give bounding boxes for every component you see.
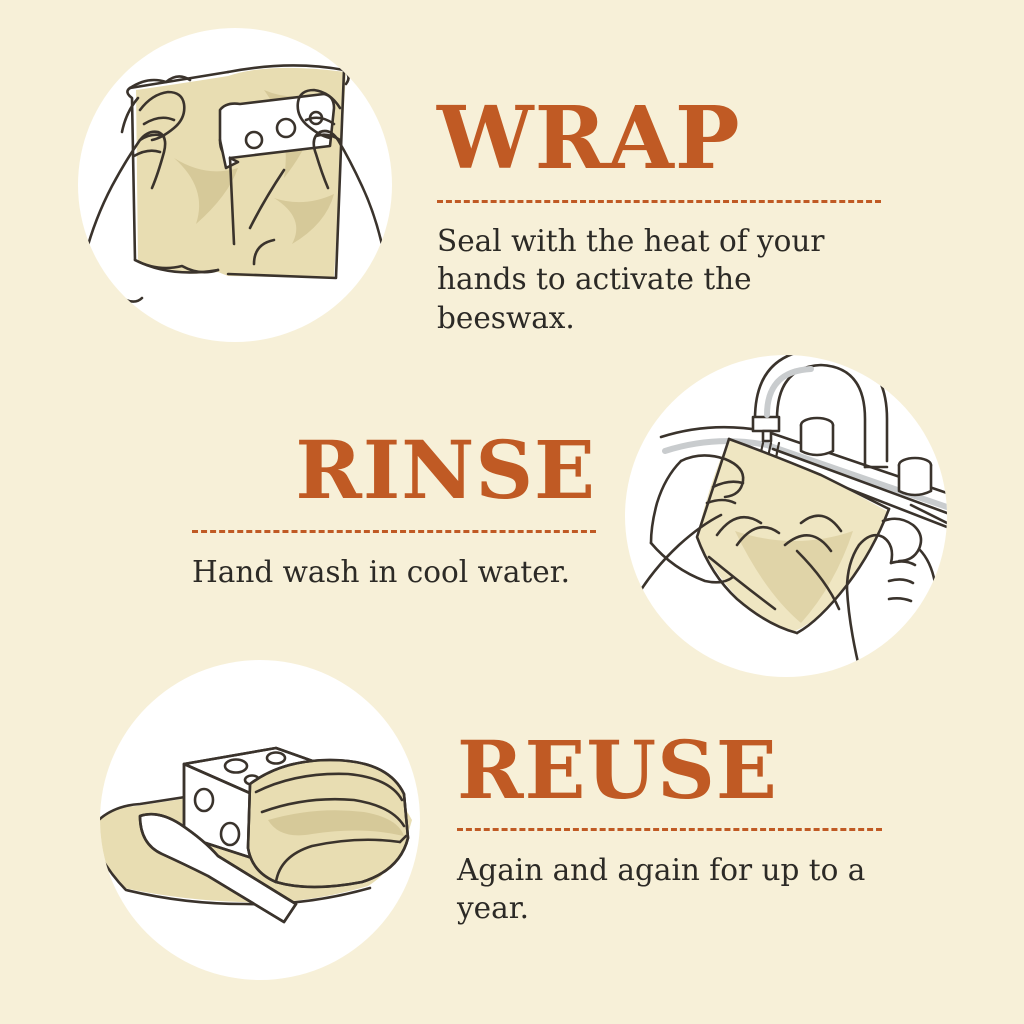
rinse-body-text: Hand wash in cool water.	[192, 553, 596, 591]
beeswax-wrap-care-infographic: WRAP Seal with the heat of your hands to…	[0, 0, 1024, 1024]
wrap-body-text: Seal with the heat of your hands to acti…	[437, 222, 883, 337]
reuse-text-column: REUSE Again and again for up to a year.	[457, 730, 882, 928]
wrap-divider	[437, 200, 881, 203]
reuse-divider	[457, 828, 882, 831]
reuse-heading: REUSE	[457, 730, 882, 810]
hands-wrapping-cheese-illustration	[78, 28, 392, 342]
rinse-text-column: RINSE Hand wash in cool water.	[192, 430, 596, 591]
rinse-heading: RINSE	[192, 430, 596, 510]
hands-rinsing-wrap-under-faucet-illustration	[625, 355, 947, 677]
reuse-body-text: Again and again for up to a year.	[457, 851, 882, 928]
wrap-text-column: WRAP Seal with the heat of your hands to…	[437, 96, 883, 337]
rinse-divider	[192, 530, 596, 533]
cheese-block-wrapped-with-knife-illustration	[100, 660, 420, 980]
wrap-heading: WRAP	[437, 96, 883, 182]
